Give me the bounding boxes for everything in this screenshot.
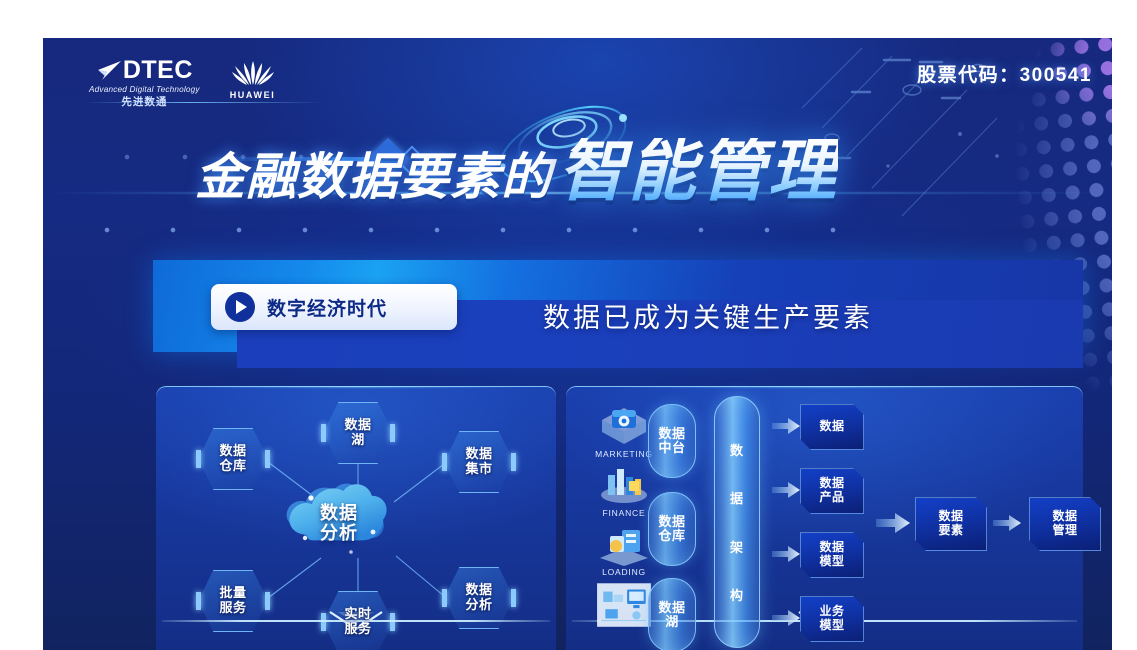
- arrow-right-icon: [772, 546, 800, 562]
- huawei-wordmark: HUAWEI: [230, 90, 276, 100]
- cloud-label-line2: 分析: [320, 523, 358, 543]
- arrow-right-icon: [772, 418, 800, 434]
- chip-line1: 数据: [819, 476, 844, 490]
- pill-line2: 湖: [665, 614, 679, 629]
- screenshot-canvas: DTEC Advanced Digital Technology 先进数通: [0, 0, 1137, 650]
- chip-data-model[interactable]: 数据模型: [800, 532, 864, 578]
- page-title: 金融数据要素的 智能管理: [195, 138, 838, 206]
- hex-label-line2: 湖: [351, 432, 365, 447]
- cube-box-3d-icon: [596, 404, 652, 448]
- chip-line1: 业务: [819, 604, 844, 618]
- cloud-label-line1: 数据: [320, 503, 358, 523]
- hex-label-line2: 分析: [465, 597, 492, 612]
- hex-node-data-mart[interactable]: 数据集市: [444, 431, 514, 493]
- chip-line2: 产品: [819, 490, 844, 504]
- cloud-icon[interactable]: 数据 分析: [281, 476, 397, 564]
- hex-label-line1: 实时: [344, 606, 371, 621]
- logo-group: DTEC Advanced Digital Technology 先进数通: [89, 58, 275, 108]
- chip-line2: 要素: [938, 523, 963, 537]
- hex-label-line1: 数据: [344, 417, 371, 432]
- dtec-chinese-name: 先进数通: [121, 97, 167, 108]
- arrow-right-icon: [772, 482, 800, 498]
- bank-chart-3d-icon: [596, 463, 652, 507]
- hex-label-line1: 数据: [465, 446, 492, 461]
- chip-data[interactable]: 数据: [800, 404, 864, 450]
- arrow-right-icon: [876, 513, 910, 533]
- section-badge-label: 数字经济时代: [267, 294, 387, 321]
- chip-line1: 数据: [819, 540, 844, 554]
- arrow-right-icon: [772, 610, 800, 626]
- huawei-logo: HUAWEI: [230, 58, 276, 100]
- hex-node-data-warehouse[interactable]: 数据仓库: [198, 428, 268, 490]
- cloud-label: 数据 分析: [281, 476, 397, 564]
- spine-char-4: 构: [730, 585, 744, 604]
- spine-char-1: 数: [730, 440, 744, 459]
- source-caption: LOADING: [602, 567, 646, 577]
- hex-node-data-lake[interactable]: 数据湖: [323, 402, 393, 464]
- pill-line2: 中台: [658, 440, 685, 455]
- chip-data-governance[interactable]: 数据管理: [1029, 497, 1101, 551]
- hex-label-line2: 服务: [219, 600, 246, 615]
- source-caption: MARKETING: [595, 449, 653, 459]
- chip-data-element[interactable]: 数据要素: [915, 497, 987, 551]
- presentation-slide: DTEC Advanced Digital Technology 先进数通: [43, 38, 1112, 650]
- pill-data-warehouse[interactable]: 数据仓库: [648, 492, 696, 566]
- play-triangle-icon: [225, 292, 255, 322]
- source-caption: FINANCE: [603, 508, 646, 518]
- title-highlight-part: 智能管理: [558, 138, 838, 206]
- hex-label-line2: 服务: [344, 621, 371, 636]
- pill-line1: 数据: [658, 600, 685, 615]
- hex-label-line2: 集市: [465, 461, 492, 476]
- chip-line2: 管理: [1052, 523, 1077, 537]
- pill-data-lake[interactable]: 数据湖: [648, 578, 696, 650]
- paper-plane-mark-icon: [96, 60, 122, 82]
- hex-label-line1: 批量: [219, 585, 246, 600]
- chip-line2: 模型: [819, 618, 844, 632]
- spine-char-3: 架: [730, 537, 744, 556]
- chip-line2: 模型: [819, 554, 844, 568]
- dtec-logo: DTEC Advanced Digital Technology 先进数通: [89, 58, 200, 108]
- title-plain-part: 金融数据要素的: [195, 152, 552, 202]
- spine-char-2: 据: [730, 488, 744, 507]
- hex-label-line1: 数据: [465, 582, 492, 597]
- section-headline: 数据已成为关键生产要素: [543, 296, 873, 335]
- desktop-data-3d-icon: [595, 581, 653, 627]
- dtec-tagline: Advanced Digital Technology: [89, 86, 200, 94]
- pill-data-architecture[interactable]: 数 据 架 构: [714, 396, 760, 648]
- chip-business-model[interactable]: 业务模型: [800, 596, 864, 642]
- dot-row-decoration: [103, 226, 863, 236]
- server-loading-3d-icon: [596, 522, 652, 566]
- pill-line2: 仓库: [658, 528, 685, 543]
- section-badge[interactable]: 数字经济时代: [211, 284, 457, 330]
- chip-data-product[interactable]: 数据产品: [800, 468, 864, 514]
- chip-line1: 数据: [819, 419, 844, 433]
- stock-code-label: 股票代码：300541: [917, 60, 1092, 87]
- hex-label-line2: 仓库: [219, 458, 246, 473]
- pill-data-midplatform[interactable]: 数据中台: [648, 404, 696, 478]
- pill-line1: 数据: [658, 426, 685, 441]
- arrow-right-icon: [993, 515, 1021, 531]
- huawei-petal-mark-icon: [232, 60, 274, 86]
- dtec-wordmark: DTEC: [123, 58, 193, 83]
- chip-line1: 数据: [938, 509, 963, 523]
- hex-label-line1: 数据: [219, 443, 246, 458]
- chip-line1: 数据: [1052, 509, 1077, 523]
- pill-line1: 数据: [658, 514, 685, 529]
